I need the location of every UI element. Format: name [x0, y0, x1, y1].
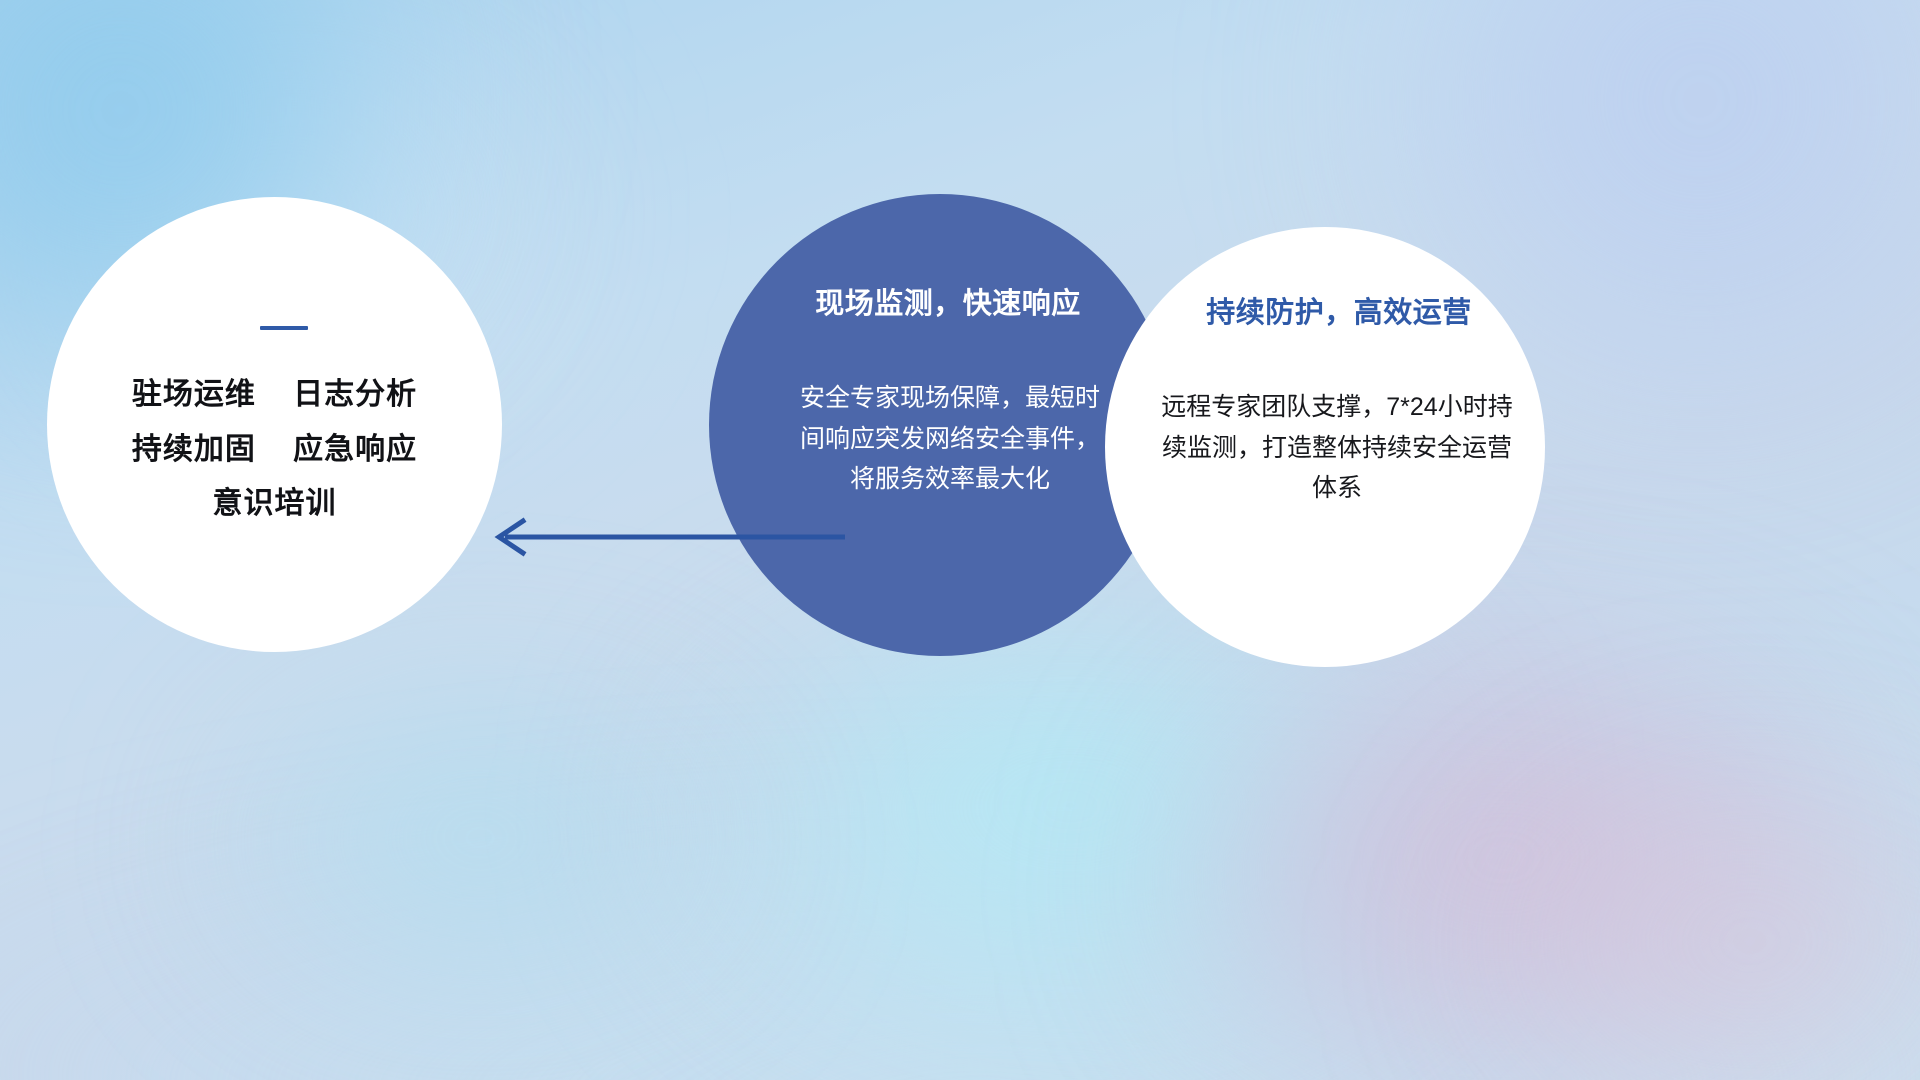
divider-dash-icon	[260, 326, 308, 330]
right-operations-circle[interactable]: 持续防护，高效运营 远程专家团队支撑，7*24小时持续监测，打造整体持续安全运营…	[1105, 227, 1545, 667]
left-service-circle[interactable]: 驻场运维 日志分析 持续加固 应急响应 意识培训	[47, 197, 502, 652]
left-circle-line-2: 持续加固 应急响应	[132, 431, 417, 469]
right-circle-body: 远程专家团队支撑，7*24小时持续监测，打造整体持续安全运营体系	[1151, 387, 1523, 509]
right-circle-title: 持续防护，高效运营	[1206, 289, 1472, 331]
middle-onsite-circle[interactable]: 现场监测，快速响应 安全专家现场保障，最短时间响应突发网络安全事件，将服务效率最…	[709, 194, 1171, 656]
arrow-svg	[487, 512, 847, 562]
left-circle-line-1: 驻场运维 日志分析	[132, 376, 417, 414]
left-circle-text-block: 驻场运维 日志分析 持续加固 应急响应 意识培训	[132, 376, 417, 523]
left-circle-line-3: 意识培训	[213, 485, 337, 523]
middle-circle-title: 现场监测，快速响应	[815, 280, 1081, 322]
flow-arrow-left-icon	[487, 512, 847, 562]
slide-canvas: 驻场运维 日志分析 持续加固 应急响应 意识培训 现场监测，快速响应 安全专家现…	[0, 0, 1920, 1080]
middle-circle-body: 安全专家现场保障，最短时间响应突发网络安全事件，将服务效率最大化	[800, 378, 1100, 500]
